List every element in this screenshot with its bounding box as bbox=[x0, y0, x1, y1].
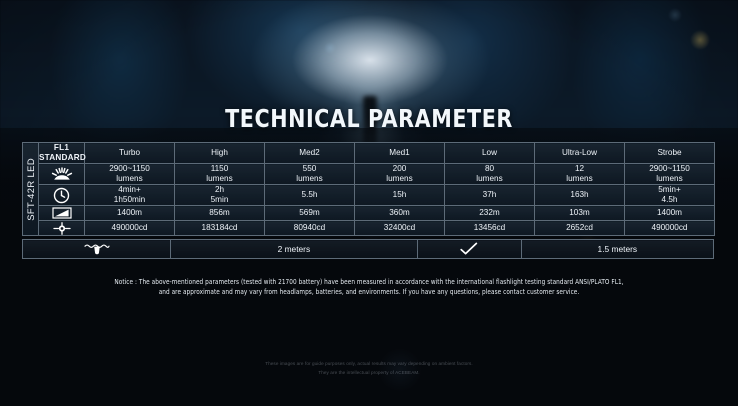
table-row-beam-distance: 1400m 856m 569m 360m 232m 103m 1400m bbox=[23, 206, 715, 221]
clock-icon bbox=[39, 185, 85, 206]
distance-value-turbo: 1400m bbox=[85, 206, 175, 221]
output-turbo-line1: 2900~1150 bbox=[109, 164, 150, 173]
mode-header-med1[interactable]: Med1 bbox=[355, 143, 445, 164]
intensity-value-ultra-low: 2652cd bbox=[535, 221, 625, 236]
fl1-standard-line1: FL1 bbox=[54, 143, 69, 152]
fl1-standard-header: FL1 STANDARD bbox=[39, 143, 85, 164]
peak-intensity-icon bbox=[39, 221, 85, 236]
runtime-value-ultra-low: 163h bbox=[535, 185, 625, 206]
runtime-strobe-line1: 5min+ bbox=[658, 185, 681, 194]
distance-value-low: 232m bbox=[445, 206, 535, 221]
waterproof-impact-row: 2 meters 1.5 meters bbox=[23, 240, 714, 259]
technical-parameter-page: TECHNICAL PARAMETER SFT-42R LED FL1 STAN… bbox=[0, 0, 738, 406]
output-high-line2: lumens bbox=[175, 174, 264, 184]
notice-line-1: Notice : The above-mentioned parameters … bbox=[50, 277, 688, 287]
impact-resistance-2-meters: 2 meters bbox=[171, 240, 417, 259]
intensity-value-low: 13456cd bbox=[445, 221, 535, 236]
output-value-high: 1150 lumens bbox=[175, 164, 265, 185]
model-name-label: SFT-42R LED bbox=[25, 158, 36, 221]
watermark-disclaimer: These images are for guide purposes only… bbox=[0, 360, 738, 377]
mode-header-ultra-low[interactable]: Ultra-Low bbox=[535, 143, 625, 164]
runtime-strobe-line2: 4.5h bbox=[625, 195, 714, 205]
distance-value-med1: 360m bbox=[355, 206, 445, 221]
runtime-high-line2: 5min bbox=[175, 195, 264, 205]
notice-text: Notice : The above-mentioned parameters … bbox=[50, 277, 688, 297]
runtime-value-strobe: 5min+ 4.5h bbox=[625, 185, 715, 206]
table-row-output: 2900~1150 lumens 1150 lumens 550 lumens … bbox=[23, 164, 715, 185]
model-name-cell: SFT-42R LED bbox=[23, 143, 39, 236]
distance-value-ultra-low: 103m bbox=[535, 206, 625, 221]
output-strobe-line1: 2900~1150 bbox=[649, 164, 690, 173]
runtime-value-low: 37h bbox=[445, 185, 535, 206]
mode-header-med2[interactable]: Med2 bbox=[265, 143, 355, 164]
impact-resistance-1-5-meters: 1.5 meters bbox=[521, 240, 713, 259]
table-row-runtime: 4min+ 1h50min 2h 5min 5.5h 15h 37h 163h … bbox=[23, 185, 715, 206]
table-header-row: SFT-42R LED FL1 STANDARD Turbo High Med2… bbox=[23, 143, 715, 164]
mode-header-turbo[interactable]: Turbo bbox=[85, 143, 175, 164]
intensity-value-strobe: 490000cd bbox=[625, 221, 715, 236]
output-ultra-low-line1: 12 bbox=[575, 164, 584, 173]
beam-distance-icon bbox=[39, 206, 85, 221]
runtime-turbo-line2: 1h50min bbox=[85, 195, 174, 205]
output-value-strobe: 2900~1150 lumens bbox=[625, 164, 715, 185]
output-value-med1: 200 lumens bbox=[355, 164, 445, 185]
intensity-value-turbo: 490000cd bbox=[85, 221, 175, 236]
runtime-value-med2: 5.5h bbox=[265, 185, 355, 206]
distance-value-strobe: 1400m bbox=[625, 206, 715, 221]
page-title: TECHNICAL PARAMETER bbox=[30, 104, 709, 133]
runtime-turbo-line1: 4min+ bbox=[118, 185, 141, 194]
mode-header-strobe[interactable]: Strobe bbox=[625, 143, 715, 164]
runtime-high-line1: 2h bbox=[215, 185, 224, 194]
mode-header-low[interactable]: Low bbox=[445, 143, 535, 164]
table-row-peak-intensity: 490000cd 183184cd 80940cd 32400cd 13456c… bbox=[23, 221, 715, 236]
intensity-value-med2: 80940cd bbox=[265, 221, 355, 236]
runtime-value-turbo: 4min+ 1h50min bbox=[85, 185, 175, 206]
fl1-standard-line2: STANDARD bbox=[39, 153, 86, 162]
output-low-line1: 80 bbox=[485, 164, 494, 173]
output-med2-line2: lumens bbox=[265, 174, 354, 184]
runtime-value-med1: 15h bbox=[355, 185, 445, 206]
waterproof-impact-table: 2 meters 1.5 meters bbox=[22, 239, 714, 259]
watermark-line-1: These images are for guide purposes only… bbox=[0, 360, 738, 369]
sun-rays-icon bbox=[39, 164, 85, 185]
output-low-line2: lumens bbox=[445, 174, 534, 184]
output-value-ultra-low: 12 lumens bbox=[535, 164, 625, 185]
output-turbo-line2: lumens bbox=[85, 174, 174, 184]
runtime-value-high: 2h 5min bbox=[175, 185, 265, 206]
notice-line-2: and are approximate and may vary from he… bbox=[50, 287, 688, 297]
output-high-line1: 1150 bbox=[211, 164, 229, 173]
intensity-value-med1: 32400cd bbox=[355, 221, 445, 236]
distance-value-high: 856m bbox=[175, 206, 265, 221]
output-ultra-low-line2: lumens bbox=[535, 174, 624, 184]
output-value-low: 80 lumens bbox=[445, 164, 535, 185]
output-value-turbo: 2900~1150 lumens bbox=[85, 164, 175, 185]
output-med1-line2: lumens bbox=[355, 174, 444, 184]
mode-header-high[interactable]: High bbox=[175, 143, 265, 164]
specification-table: SFT-42R LED FL1 STANDARD Turbo High Med2… bbox=[22, 142, 715, 236]
specification-table-wrapper: SFT-42R LED FL1 STANDARD Turbo High Med2… bbox=[22, 142, 714, 259]
checkmark-icon bbox=[417, 240, 521, 259]
water-submersion-icon bbox=[23, 240, 171, 259]
distance-value-med2: 569m bbox=[265, 206, 355, 221]
intensity-value-high: 183184cd bbox=[175, 221, 265, 236]
output-med2-line1: 550 bbox=[303, 164, 317, 173]
output-strobe-line2: lumens bbox=[625, 174, 714, 184]
watermark-line-2: They are the intellectual property of AC… bbox=[0, 369, 738, 378]
output-value-med2: 550 lumens bbox=[265, 164, 355, 185]
output-med1-line1: 200 bbox=[393, 164, 407, 173]
